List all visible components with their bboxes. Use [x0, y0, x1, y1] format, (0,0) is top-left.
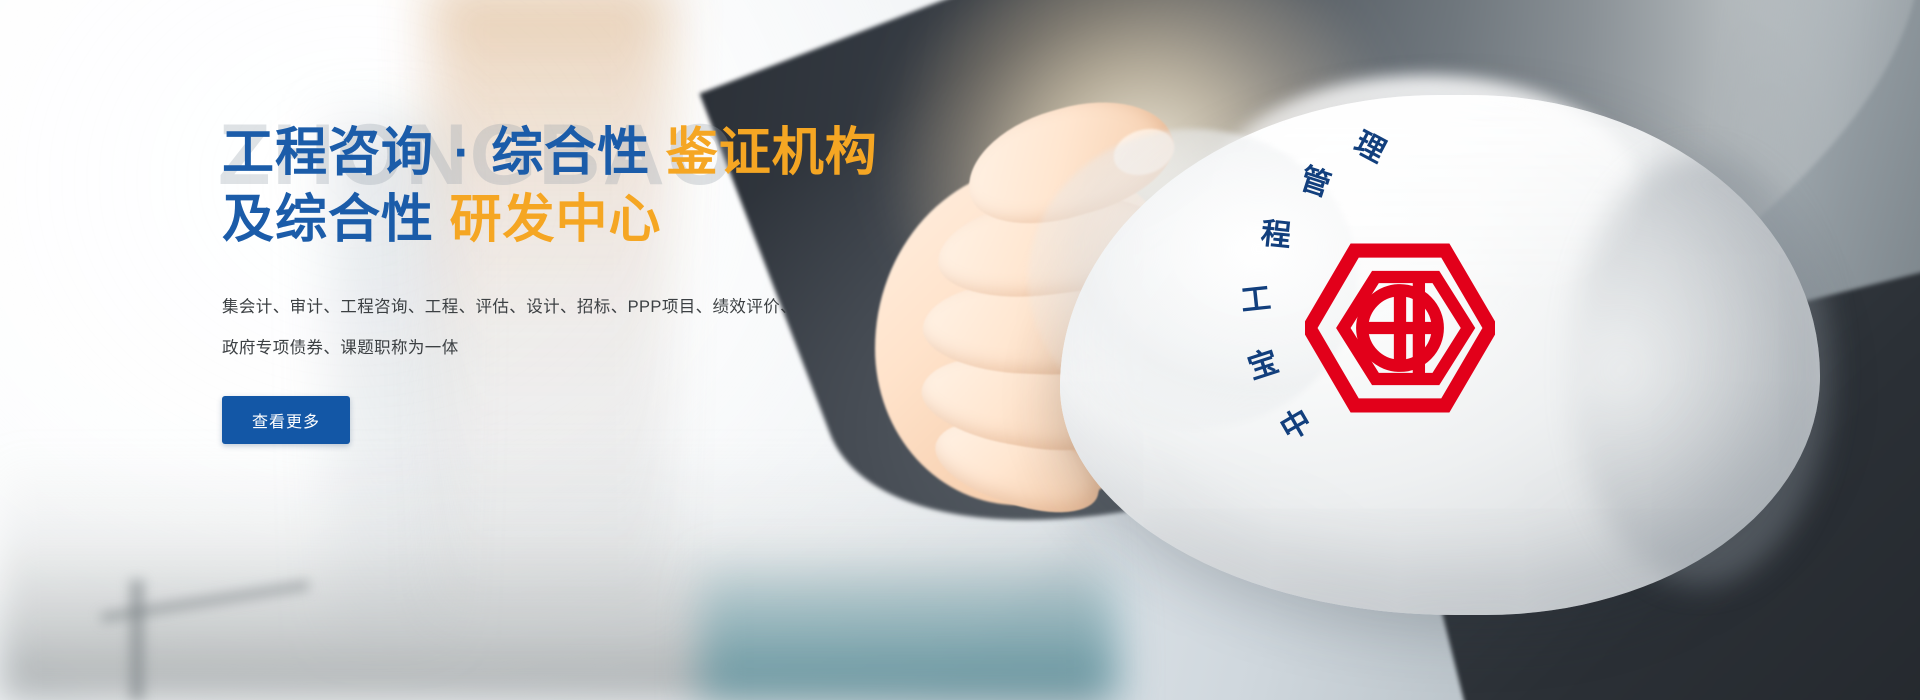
arc-char-1: 管 — [1296, 162, 1335, 203]
arc-char-4: 宝 — [1244, 344, 1283, 386]
headline-line-1: 工程咨询 · 综合性 鉴证机构 — [222, 120, 1002, 187]
hero-copy: ZHONGBAO 工程咨询 · 综合性 鉴证机构 及综合性 研发中心 集会计、审… — [222, 120, 1002, 444]
headline-line2-accent: 研发中心 — [449, 191, 661, 249]
hard-hat: 理 管 程 工 宝 中 — [1060, 95, 1820, 615]
hero-description-line-2: 政府专项债券、课题职称为一体 — [222, 328, 822, 369]
hero-description-line-1: 集会计、审计、工程咨询、工程、评估、设计、招标、PPP项目、绩效评价、 — [222, 287, 822, 328]
headline-separator-dot: · — [449, 124, 475, 182]
hero-description: 集会计、审计、工程咨询、工程、评估、设计、招标、PPP项目、绩效评价、 政府专项… — [222, 287, 822, 370]
headline-line1-part2: 综合性 — [491, 124, 650, 182]
arc-char-0: 理 — [1349, 126, 1391, 169]
arc-char-2: 程 — [1259, 217, 1292, 253]
background-beam-vertical — [130, 580, 144, 700]
arc-char-3: 工 — [1239, 282, 1272, 318]
headline-line2-part1: 及综合性 — [222, 191, 434, 249]
hard-hat-shading — [1570, 155, 1830, 585]
arc-char-5: 中 — [1275, 403, 1317, 447]
page-title: 工程咨询 · 综合性 鉴证机构 及综合性 研发中心 — [222, 120, 1002, 253]
headline-line1-part1: 工程咨询 — [222, 124, 434, 182]
headline-line-2: 及综合性 研发中心 — [222, 187, 1002, 254]
hard-hat-company-text: 理 管 程 工 宝 中 — [1190, 115, 1520, 535]
view-more-button[interactable]: 查看更多 — [222, 396, 350, 444]
hero-banner: 理 管 程 工 宝 中 ZHONGBAO 工程咨询 · 综合性 鉴证机构 及综合… — [0, 0, 1920, 700]
background-teal-structure — [700, 550, 1120, 700]
headline-line1-accent: 鉴证机构 — [666, 124, 878, 182]
